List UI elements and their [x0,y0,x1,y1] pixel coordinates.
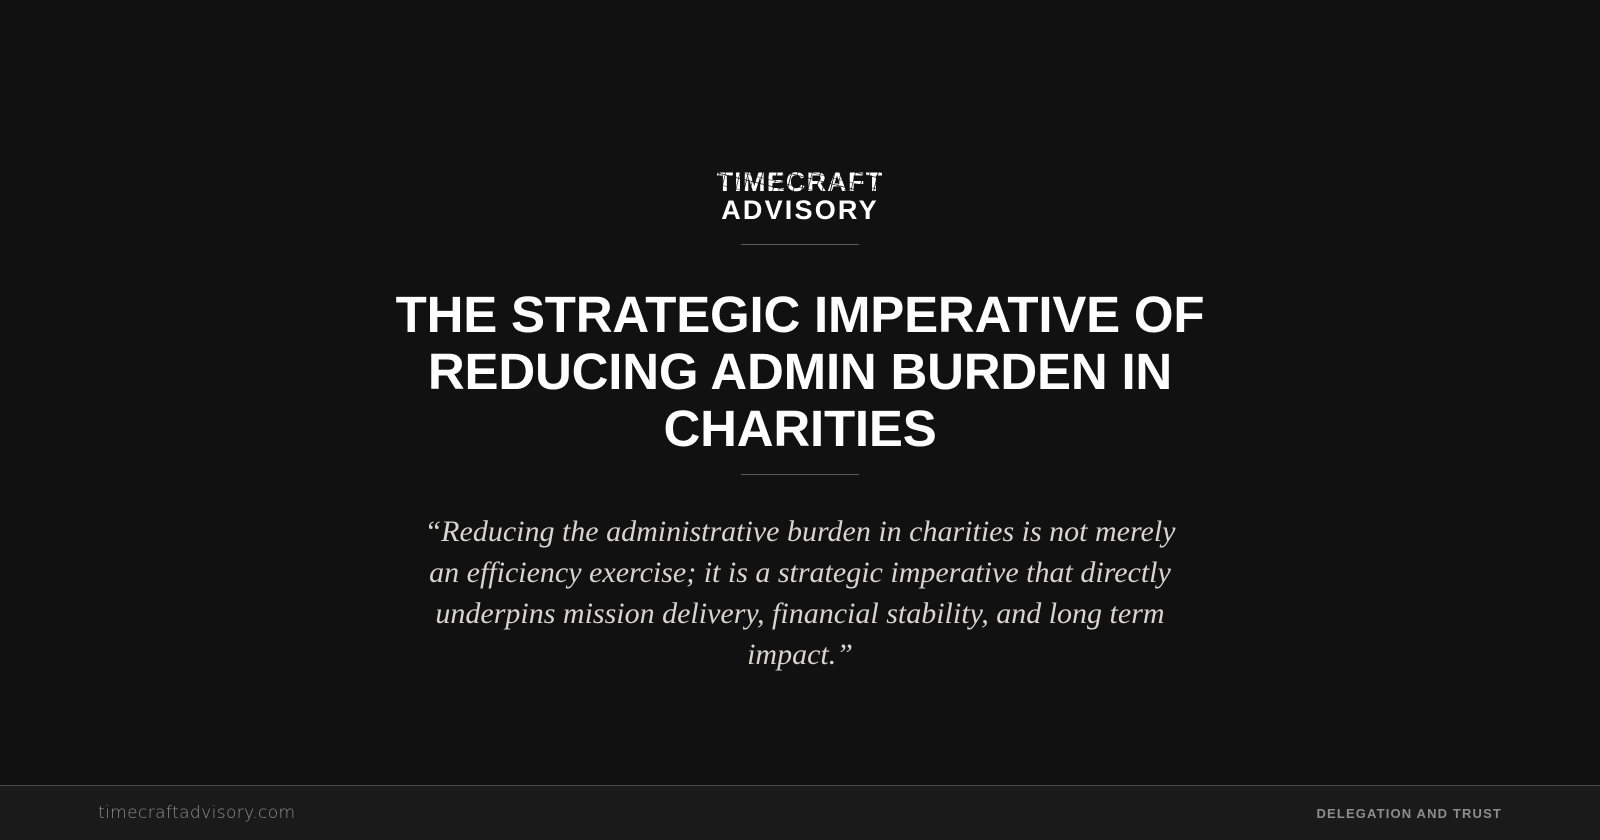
slide-quote: “Reducing the administrative burden in c… [420,511,1180,675]
divider-below-title [741,474,859,475]
divider-below-logo [741,244,859,245]
footer-section-label: DELEGATION AND TRUST [1317,806,1503,821]
logo-top-word: TIMECRAFT [717,168,884,196]
slide-title: THE STRATEGIC IMPERATIVE OF REDUCING ADM… [270,286,1330,457]
logo-wordmark: TIMECRAFT ADVISORY [717,168,884,224]
slide-content: TIMECRAFT ADVISORY THE STRATEGIC IMPERAT… [0,0,1600,785]
footer-website[interactable]: timecraftadvisory.com [98,803,296,823]
brand-logo: TIMECRAFT ADVISORY [0,168,1600,253]
slide-footer: timecraftadvisory.com DELEGATION AND TRU… [0,785,1600,840]
logo-bottom-word: ADVISORY [717,196,884,224]
presentation-slide: TIMECRAFT ADVISORY THE STRATEGIC IMPERAT… [0,0,1600,840]
